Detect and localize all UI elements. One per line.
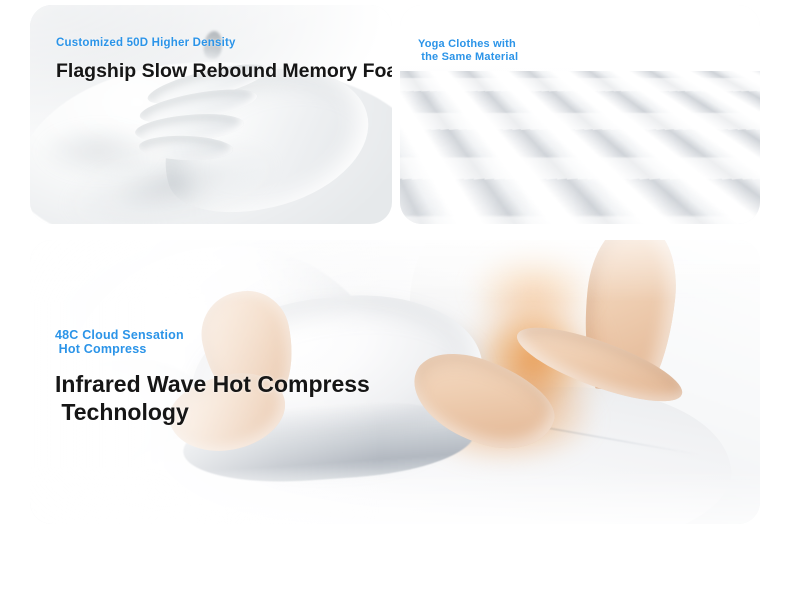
memory-foam-eyebrow: Customized 50D Higher Density bbox=[56, 37, 392, 50]
hot-compress-copy: 48C Cloud Sensation Hot Compress Infrare… bbox=[55, 328, 370, 426]
panel-hot-compress: 48C Cloud Sensation Hot Compress Infrare… bbox=[30, 240, 760, 524]
yoga-fabric-eyebrow: Yoga Clothes with the Same Material bbox=[418, 38, 668, 63]
hot-compress-headline: Infrared Wave Hot Compress Technology bbox=[55, 370, 370, 426]
memory-foam-copy: Customized 50D Higher Density Flagship S… bbox=[56, 37, 392, 84]
hot-compress-eyebrow: 48C Cloud Sensation Hot Compress bbox=[55, 328, 370, 357]
yoga-fabric-headline: Skin-friendly, Comfortable, and Effectiv… bbox=[418, 72, 668, 120]
yoga-fabric-copy: Yoga Clothes with the Same Material Skin… bbox=[418, 38, 668, 120]
memory-foam-headline: Flagship Slow Rebound Memory Foam bbox=[56, 60, 392, 84]
panel-memory-foam: Customized 50D Higher Density Flagship S… bbox=[30, 5, 392, 224]
product-feature-board: Customized 50D Higher Density Flagship S… bbox=[0, 0, 790, 612]
panel-yoga-fabric: Yoga Clothes with the Same Material Skin… bbox=[400, 5, 760, 224]
